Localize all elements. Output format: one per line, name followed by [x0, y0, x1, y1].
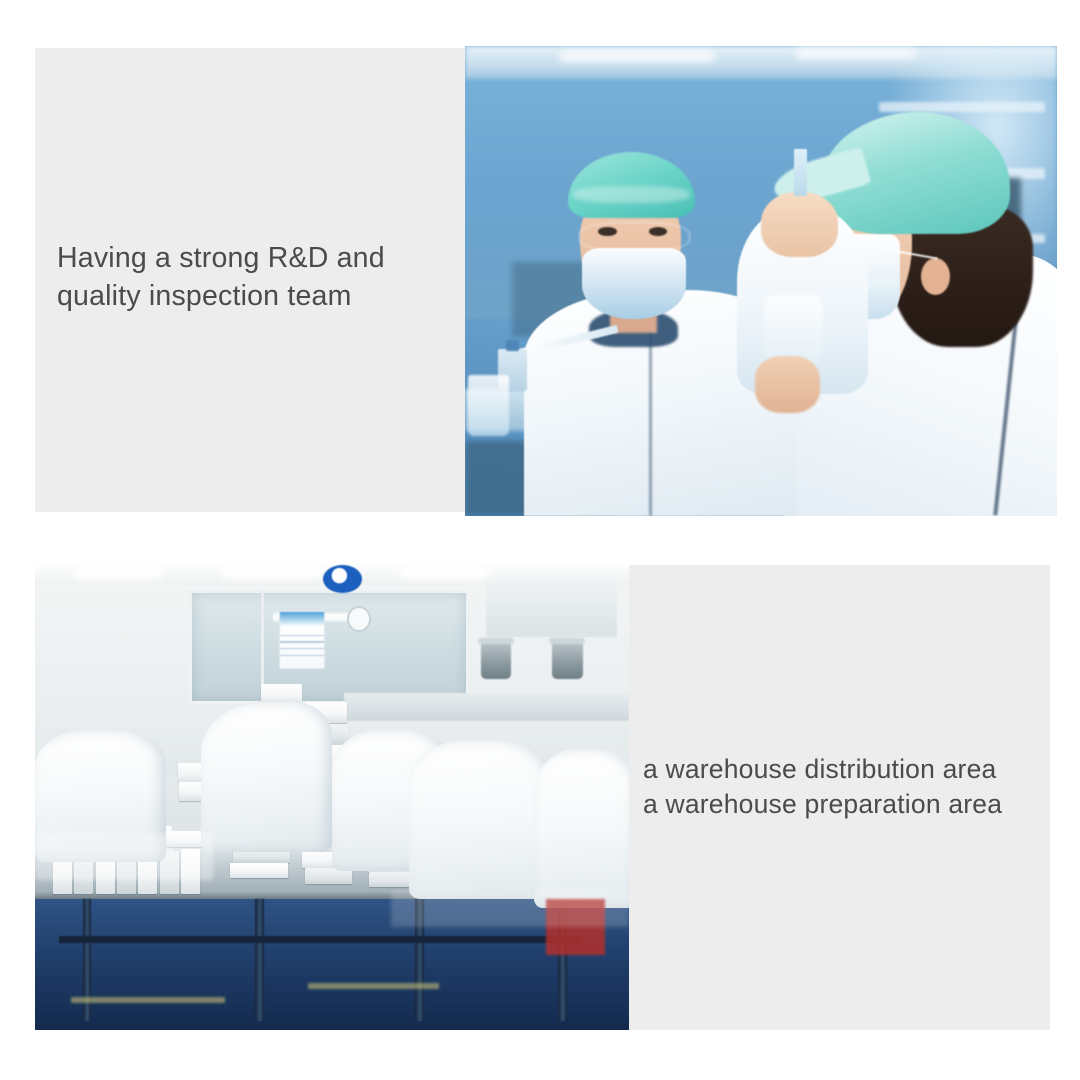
beaker-icon [468, 375, 509, 436]
lab-coat-seam [649, 328, 652, 516]
table-glare [391, 890, 629, 927]
back-counter [344, 693, 629, 721]
lab-scene-background [465, 46, 1057, 516]
face-mask-icon [582, 248, 686, 319]
ceiling-light-icon [403, 569, 486, 576]
ceiling-light-icon [225, 569, 320, 576]
page-root: Having a strong R&D and quality inspecti… [0, 0, 1080, 1080]
window-mullion [261, 590, 264, 698]
ceiling-light-icon [560, 51, 714, 62]
small-bottle-box [179, 782, 203, 801]
floor-marking [71, 997, 225, 1003]
hand-holding-flask [755, 356, 820, 412]
white-coat [409, 740, 552, 899]
rd-quality-caption: Having a strong R&D and quality inspecti… [57, 240, 457, 315]
carton-box [369, 872, 411, 887]
lab-shelf [879, 102, 1045, 111]
worker-far-right [534, 749, 629, 908]
white-coat [201, 702, 332, 852]
blue-circular-sign-icon [323, 565, 362, 593]
wall-notice-poster [279, 611, 326, 669]
wall-clock-icon [347, 606, 371, 632]
table-rail [59, 936, 582, 943]
steel-pot-icon [552, 642, 583, 679]
warehouse-scene-background [35, 562, 629, 1030]
cleanroom-window [189, 590, 468, 704]
hand-holding-vial [761, 192, 838, 258]
warehouse-caption: a warehouse distribution area a warehous… [643, 752, 1053, 822]
carton-box [230, 863, 288, 878]
steel-pot-icon [481, 642, 512, 679]
warehouse-packing-photo [35, 562, 629, 1030]
worker-right [409, 740, 552, 899]
lab-quality-inspection-photo [465, 46, 1057, 516]
floor-marking [308, 983, 439, 989]
white-coat [534, 749, 629, 908]
sample-vial-icon [794, 149, 807, 196]
table-glare [35, 833, 213, 880]
small-bottle-box [178, 763, 202, 782]
worker-center-left [201, 702, 332, 852]
extraction-hood [486, 581, 617, 637]
table-leg [255, 899, 264, 1021]
ceiling-light-icon [77, 569, 160, 576]
